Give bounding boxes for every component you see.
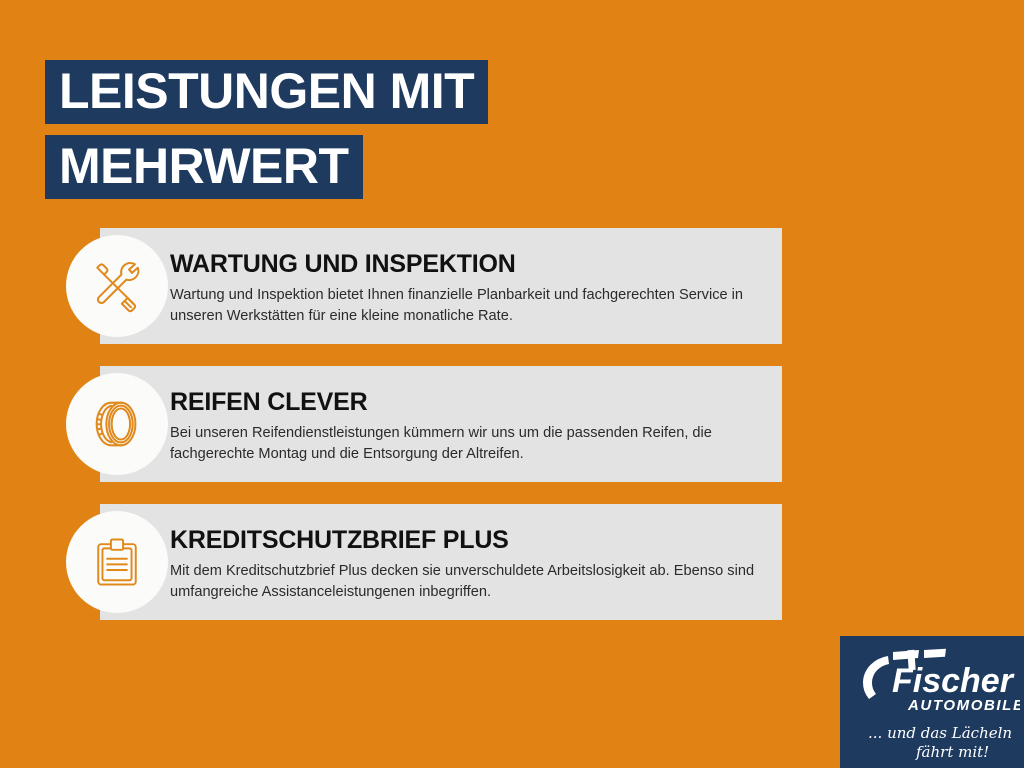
logo-tagline-line-2: fährt mit! <box>915 743 989 761</box>
service-card-title: REIFEN CLEVER <box>170 366 770 416</box>
service-card-list: WARTUNG UND INSPEKTION Wartung und Inspe… <box>0 228 1024 642</box>
logo-wordmark: Fischer AUTOMOBILE <box>852 648 1020 720</box>
logo-brand: Fischer <box>892 662 1015 700</box>
service-card-text: REIFEN CLEVER Bei unseren Reifendienstle… <box>170 366 770 482</box>
service-card-title: WARTUNG UND INSPEKTION <box>170 228 770 278</box>
service-card: REIFEN CLEVER Bei unseren Reifendienstle… <box>0 366 1024 482</box>
logo-tagline: ... und das Lächeln fährt mit! <box>860 720 1020 764</box>
slide-canvas: LEISTUNGEN MIT MEHRWERT WARTUNG UND INSP… <box>0 0 1024 768</box>
service-card-text: WARTUNG UND INSPEKTION Wartung und Inspe… <box>170 228 770 344</box>
service-card-description: Mit dem Kreditschutzbrief Plus decken si… <box>170 554 760 603</box>
service-card: WARTUNG UND INSPEKTION Wartung und Inspe… <box>0 228 1024 344</box>
fischer-automobile-logo: Fischer AUTOMOBILE ... und das Lächeln f… <box>840 636 1024 768</box>
service-card: KREDITSCHUTZBRIEF PLUS Mit dem Kreditsch… <box>0 504 1024 620</box>
page-title-line-1: LEISTUNGEN MIT <box>45 60 488 124</box>
wrench-screwdriver-icon <box>66 235 168 337</box>
service-card-description: Bei unseren Reifendienstleistungen kümme… <box>170 416 760 465</box>
tire-icon <box>66 373 168 475</box>
logo-subtitle: AUTOMOBILE <box>907 697 1020 714</box>
service-card-description: Wartung und Inspektion bietet Ihnen fina… <box>170 278 760 327</box>
page-title-line-2: MEHRWERT <box>45 135 363 199</box>
service-card-title: KREDITSCHUTZBRIEF PLUS <box>170 504 770 554</box>
service-card-text: KREDITSCHUTZBRIEF PLUS Mit dem Kreditsch… <box>170 504 770 620</box>
page-title: LEISTUNGEN MIT MEHRWERT <box>45 60 488 199</box>
logo-tagline-line-1: ... und das Lächeln <box>868 724 1012 742</box>
clipboard-icon <box>66 511 168 613</box>
